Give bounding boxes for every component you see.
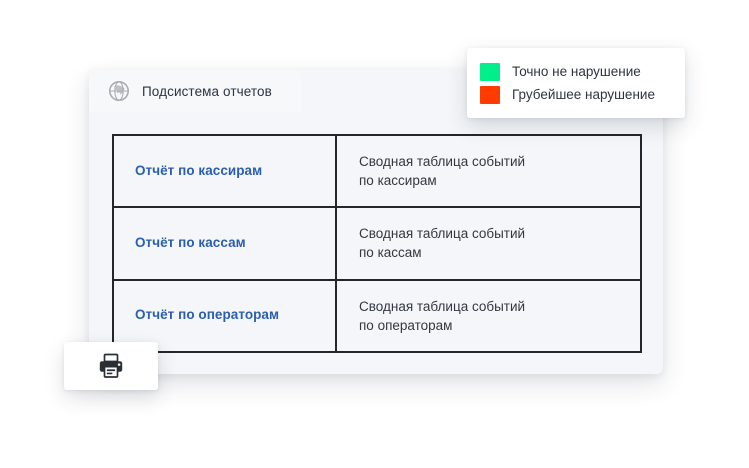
legend-label: Точно не нарушение [512, 64, 641, 79]
report-description-text: Сводная таблица событий по кассам [359, 224, 525, 262]
green-swatch-icon [480, 63, 500, 81]
report-description-cell: Сводная таблица событий по кассирам [337, 136, 640, 206]
legend-panel: Точно не нарушение Грубейшее нарушение [467, 48, 685, 118]
report-name-link[interactable]: Отчёт по операторам [135, 307, 279, 324]
legend-label: Грубейшее нарушение [512, 87, 655, 102]
report-name-cell[interactable]: Отчёт по кассам [114, 208, 337, 278]
report-name-cell[interactable]: Отчёт по кассирам [114, 136, 337, 206]
globe-icon [108, 80, 130, 102]
table-row[interactable]: Отчёт по операторам Сводная таблица собы… [114, 281, 640, 351]
reports-table: Отчёт по кассирам Сводная таблица событи… [112, 134, 642, 353]
report-description-text: Сводная таблица событий по кассирам [359, 152, 525, 190]
printer-icon[interactable] [96, 351, 126, 381]
report-name-link[interactable]: Отчёт по кассам [135, 235, 246, 252]
report-name-cell[interactable]: Отчёт по операторам [114, 281, 337, 351]
tab-subsystem-reports[interactable]: Подсистема отчетов [89, 70, 301, 112]
report-name-link[interactable]: Отчёт по кассирам [135, 163, 262, 180]
report-description-cell: Сводная таблица событий по кассам [337, 208, 640, 278]
legend-item: Грубейшее нарушение [467, 83, 685, 106]
screenshot-stage: Подсистема отчетов Отчёт по кассирам Сво… [0, 0, 749, 468]
tab-label: Подсистема отчетов [142, 84, 272, 99]
table-row[interactable]: Отчёт по кассирам Сводная таблица событи… [114, 136, 640, 208]
legend-item: Точно не нарушение [467, 60, 685, 83]
report-description-cell: Сводная таблица событий по операторам [337, 281, 640, 351]
report-description-text: Сводная таблица событий по операторам [359, 297, 525, 335]
table-row[interactable]: Отчёт по кассам Сводная таблица событий … [114, 208, 640, 280]
print-button-card[interactable] [64, 342, 158, 390]
red-swatch-icon [480, 86, 500, 104]
